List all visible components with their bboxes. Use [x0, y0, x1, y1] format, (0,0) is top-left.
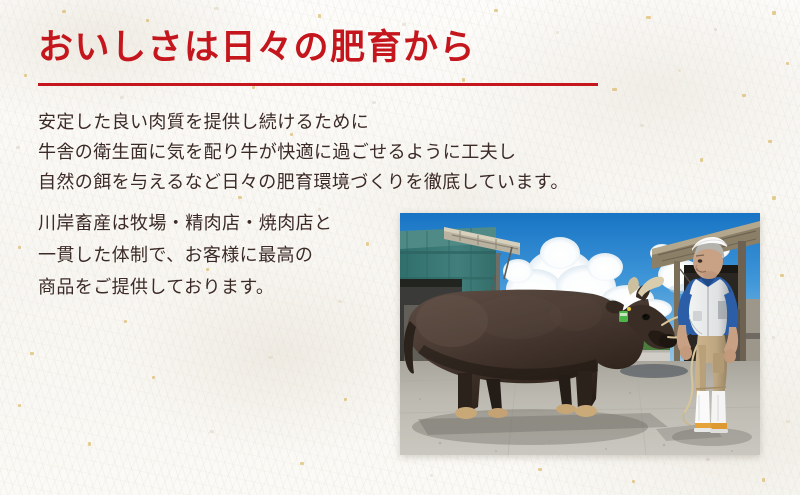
heading-block: おいしさは日々の肥育から — [38, 26, 638, 86]
farm-photo — [400, 213, 760, 455]
cargo-pocket — [713, 353, 724, 373]
intro-paragraph: 安定した良い肉質を提供し続けるために 牛舎の衛生面に気を配り牛が快適に過ごせるよ… — [38, 108, 569, 198]
left-hand — [680, 346, 692, 360]
page-title: おいしさは日々の肥育から — [38, 26, 638, 70]
right-hand — [724, 349, 736, 363]
title-underline-rule — [38, 83, 598, 86]
company-paragraph: 川岸畜産は牧場・精肉店・焼肉店と 一貫した体制で、お客様に最高の 商品をご提供し… — [38, 208, 332, 304]
ear-tag — [619, 311, 628, 322]
farm-photo-illustration — [400, 213, 760, 455]
promo-page: おいしさは日々の肥育から 安定した良い肉質を提供し続けるために 牛舎の衛生面に気… — [0, 0, 800, 495]
wet-patch — [620, 364, 688, 378]
